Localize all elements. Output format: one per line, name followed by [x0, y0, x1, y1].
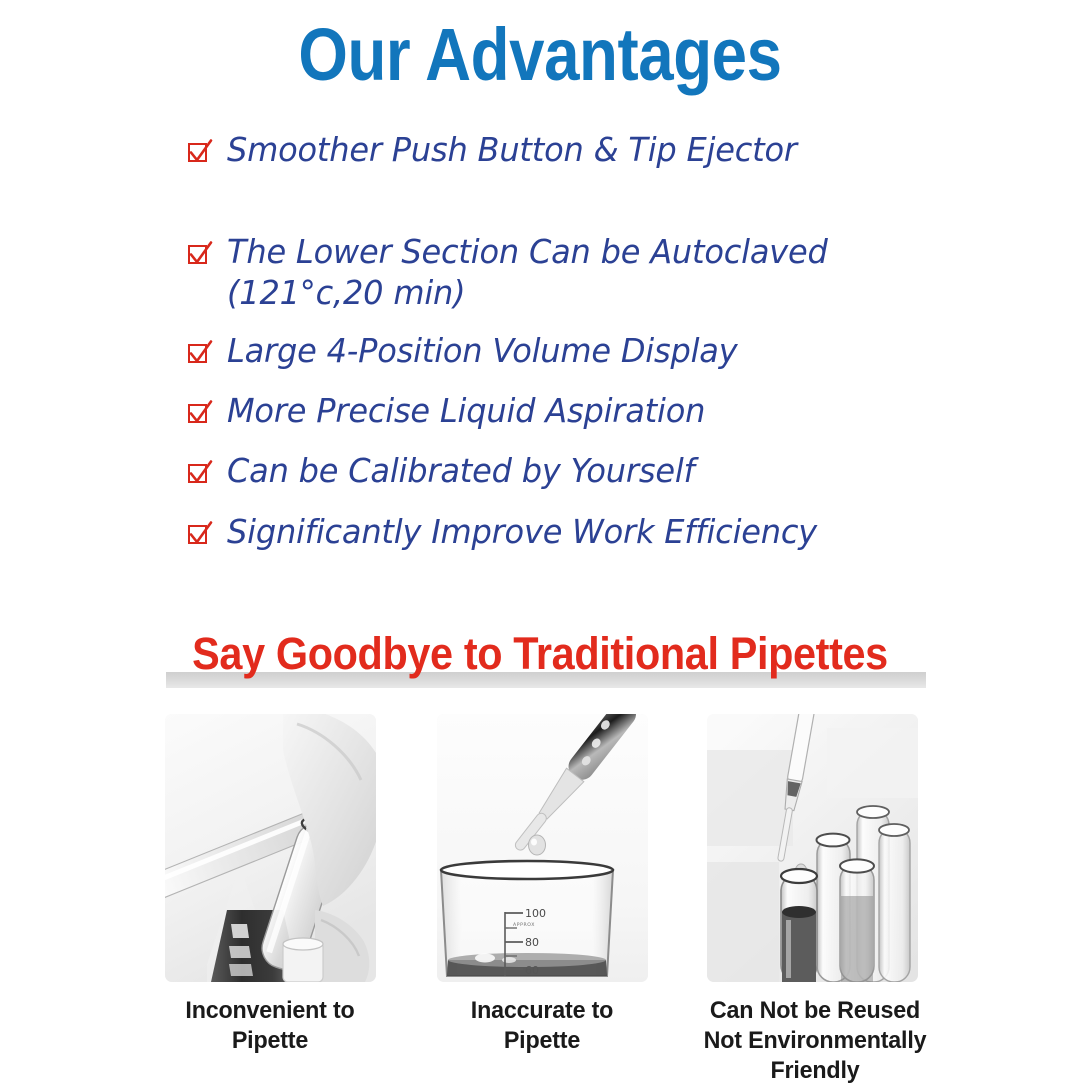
- svg-text:60: 60: [525, 964, 539, 977]
- comparison-panels: 100 APPROX 80 60: [165, 714, 919, 982]
- banner-title: Say Goodbye to Traditional Pipettes: [43, 630, 1037, 677]
- advantage-item: Can be Calibrated by Yourself: [186, 451, 986, 491]
- page-title: Our Advantages: [76, 18, 1005, 92]
- advantage-item: The Lower Section Can be Autoclaved (121…: [186, 232, 986, 313]
- advantage-item: More Precise Liquid Aspiration: [186, 391, 986, 431]
- caption-not-reusable: Can Not be Reused Not Environmentally Fr…: [696, 996, 934, 1086]
- checkbox-checked-icon: [186, 521, 213, 548]
- advantage-item: Smoother Push Button & Tip Ejector: [186, 130, 986, 170]
- checkbox-checked-icon: [186, 241, 213, 268]
- comparison-photo-inaccurate: 100 APPROX 80 60: [437, 714, 648, 982]
- svg-text:80: 80: [525, 936, 539, 949]
- advantages-infographic: Our Advantages Smoother Push Button & Ti…: [0, 0, 1080, 1080]
- section-banner: Say Goodbye to Traditional Pipettes: [0, 630, 1080, 700]
- comparison-photo-not-reusable: [707, 714, 918, 982]
- advantage-item-label: The Lower Section Can be Autoclaved (121…: [227, 232, 828, 313]
- svg-text:100: 100: [525, 907, 546, 920]
- advantage-item-label: Can be Calibrated by Yourself: [227, 451, 695, 491]
- checkbox-checked-icon: [186, 340, 213, 367]
- advantage-item-label: More Precise Liquid Aspiration: [227, 391, 705, 431]
- advantage-item-label: Large 4-Position Volume Display: [227, 331, 737, 371]
- advantage-item: Significantly Improve Work Efficiency: [186, 512, 986, 552]
- advantages-list: Smoother Push Button & Tip Ejector The L…: [186, 130, 986, 552]
- advantage-item-label: Significantly Improve Work Efficiency: [227, 512, 817, 552]
- advantage-item-label: Smoother Push Button & Tip Ejector: [227, 130, 797, 170]
- checkbox-checked-icon: [186, 400, 213, 427]
- advantage-item: Large 4-Position Volume Display: [186, 331, 986, 371]
- checkbox-checked-icon: [186, 460, 213, 487]
- caption-inaccurate: Inaccurate to Pipette: [428, 996, 656, 1056]
- caption-inconvenient: Inconvenient to Pipette: [156, 996, 384, 1056]
- svg-text:APPROX: APPROX: [513, 922, 535, 928]
- comparison-captions: Inconvenient to Pipette Inaccurate to Pi…: [150, 996, 940, 1080]
- checkbox-checked-icon: [186, 139, 213, 166]
- comparison-photo-inconvenient: [165, 714, 376, 982]
